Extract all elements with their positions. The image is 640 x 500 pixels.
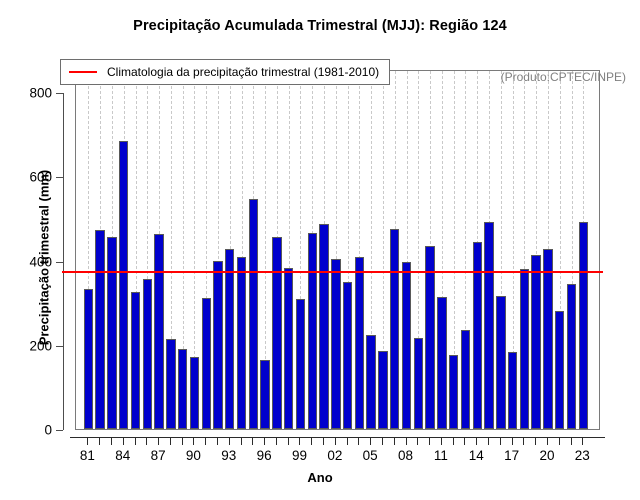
bar — [190, 357, 199, 429]
y-tick-600 — [56, 177, 63, 178]
climatology-line — [62, 271, 603, 273]
climatology-line-swatch-icon — [69, 71, 97, 73]
y-axis-title: Precipitação trimestral (mm) — [37, 108, 52, 408]
y-axis-line — [63, 93, 64, 430]
bar — [143, 279, 152, 429]
chart-title: Precipitação Acumulada Trimestral (MJJ):… — [0, 18, 640, 34]
x-tick-2020 — [547, 437, 548, 445]
bar — [579, 222, 588, 429]
bar — [166, 339, 175, 429]
x-tick-1988 — [170, 437, 171, 445]
bar — [402, 262, 411, 429]
y-tick-0 — [56, 430, 63, 431]
bar — [473, 242, 482, 429]
y-tick-label: 800 — [0, 86, 52, 101]
x-tick-2004 — [358, 437, 359, 445]
bar — [331, 259, 340, 429]
bar — [284, 268, 293, 429]
x-tick-2021 — [559, 437, 560, 445]
x-tick-2019 — [535, 437, 536, 445]
x-tick-label: 84 — [103, 448, 143, 463]
x-tick-2014 — [476, 437, 477, 445]
x-tick-1995 — [252, 437, 253, 445]
x-tick-2023 — [582, 437, 583, 445]
bar — [178, 349, 187, 429]
x-tick-2000 — [311, 437, 312, 445]
bar — [202, 298, 211, 429]
bar — [437, 297, 446, 429]
bar — [225, 249, 234, 429]
x-tick-label: 11 — [421, 448, 461, 463]
x-tick-2006 — [382, 437, 383, 445]
x-tick-1997 — [276, 437, 277, 445]
y-tick-label: 0 — [0, 423, 52, 438]
bar — [84, 289, 93, 429]
x-tick-1990 — [193, 437, 194, 445]
y-tick-400 — [56, 262, 63, 263]
x-tick-2002 — [335, 437, 336, 445]
x-tick-2001 — [323, 437, 324, 445]
x-tick-2018 — [523, 437, 524, 445]
x-tick-1991 — [205, 437, 206, 445]
x-tick-label: 14 — [456, 448, 496, 463]
x-tick-1985 — [135, 437, 136, 445]
x-tick-label: 87 — [138, 448, 178, 463]
x-tick-1981 — [87, 437, 88, 445]
x-tick-label: 08 — [386, 448, 426, 463]
legend-label-climatology: Climatologia da precipitação trimestral … — [107, 65, 379, 79]
x-tick-2009 — [417, 437, 418, 445]
x-tick-2012 — [453, 437, 454, 445]
x-tick-1996 — [264, 437, 265, 445]
bar — [414, 338, 423, 429]
y-tick-200 — [56, 346, 63, 347]
bar — [249, 199, 258, 429]
bar — [378, 351, 387, 429]
bar — [461, 330, 470, 429]
plot-area — [75, 70, 600, 430]
x-tick-label: 96 — [244, 448, 284, 463]
bar — [543, 249, 552, 429]
x-tick-2007 — [394, 437, 395, 445]
x-tick-2011 — [441, 437, 442, 445]
bar — [237, 257, 246, 429]
x-tick-label: 90 — [173, 448, 213, 463]
x-tick-2008 — [406, 437, 407, 445]
x-tick-label: 93 — [209, 448, 249, 463]
bar — [213, 261, 222, 429]
x-tick-label: 02 — [315, 448, 355, 463]
bar — [567, 284, 576, 429]
legend: Climatologia da precipitação trimestral … — [60, 59, 390, 85]
x-tick-2010 — [429, 437, 430, 445]
bar — [119, 141, 128, 429]
x-tick-1994 — [241, 437, 242, 445]
x-tick-1992 — [217, 437, 218, 445]
x-tick-2015 — [488, 437, 489, 445]
bar — [319, 224, 328, 429]
x-tick-1998 — [288, 437, 289, 445]
x-tick-label: 05 — [350, 448, 390, 463]
bar — [272, 237, 281, 430]
bar — [107, 237, 116, 429]
bar — [425, 246, 434, 429]
precipitation-bar-chart: Precipitação Acumulada Trimestral (MJJ):… — [0, 0, 640, 500]
bar — [508, 352, 517, 429]
x-tick-1986 — [146, 437, 147, 445]
bar — [308, 233, 317, 429]
source-note: (Produto:CPTEC/INPE) — [501, 70, 626, 84]
bar — [531, 255, 540, 429]
y-tick-800 — [56, 93, 63, 94]
bar — [390, 229, 399, 429]
x-axis-title: Ano — [0, 470, 640, 485]
x-tick-1989 — [182, 437, 183, 445]
bar — [296, 299, 305, 429]
bar — [343, 282, 352, 429]
x-tick-1993 — [229, 437, 230, 445]
x-tick-2017 — [512, 437, 513, 445]
x-tick-1983 — [111, 437, 112, 445]
bar — [520, 269, 529, 429]
x-tick-label: 81 — [67, 448, 107, 463]
x-tick-2016 — [500, 437, 501, 445]
x-tick-label: 99 — [279, 448, 319, 463]
x-tick-label: 17 — [492, 448, 532, 463]
bar — [496, 296, 505, 429]
bar — [260, 360, 269, 429]
x-tick-label: 23 — [562, 448, 602, 463]
bar — [131, 292, 140, 429]
x-tick-2013 — [464, 437, 465, 445]
x-axis-line — [70, 437, 605, 438]
bar — [484, 222, 493, 429]
x-tick-1987 — [158, 437, 159, 445]
bar — [449, 355, 458, 429]
x-tick-2003 — [347, 437, 348, 445]
bar — [355, 257, 364, 429]
bar — [154, 234, 163, 429]
bar — [95, 230, 104, 429]
x-tick-label: 20 — [527, 448, 567, 463]
bar — [366, 335, 375, 429]
x-tick-1982 — [99, 437, 100, 445]
bar — [555, 311, 564, 429]
x-tick-1999 — [299, 437, 300, 445]
x-tick-1984 — [123, 437, 124, 445]
x-tick-2005 — [370, 437, 371, 445]
x-tick-2022 — [571, 437, 572, 445]
